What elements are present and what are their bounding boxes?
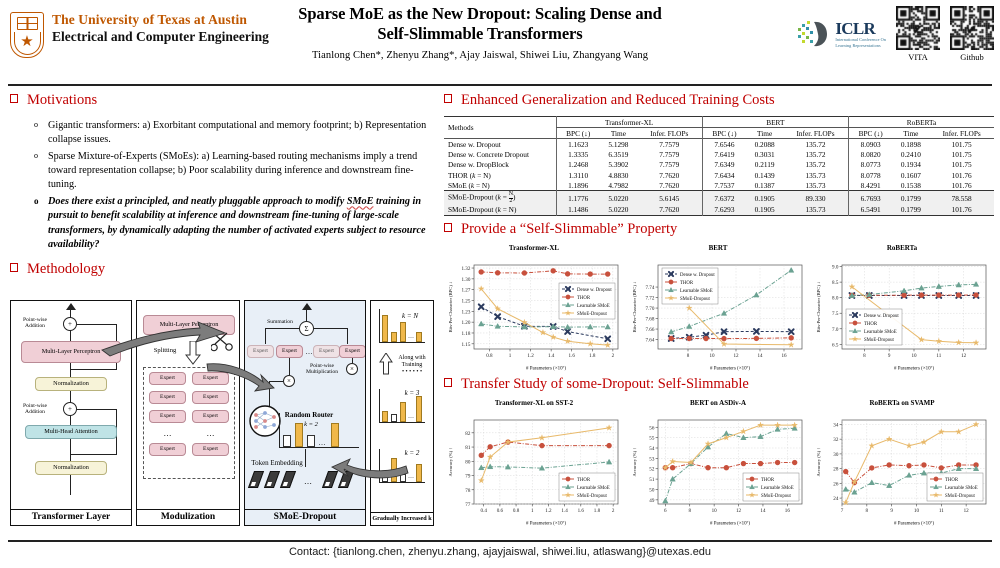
svg-text:2: 2 bbox=[612, 508, 615, 514]
svg-text:Learnable SMoE: Learnable SMoE bbox=[945, 486, 978, 491]
svg-text:1.2: 1.2 bbox=[545, 508, 552, 514]
svg-text:78: 78 bbox=[465, 488, 471, 494]
qr-vita[interactable]: VITA bbox=[896, 6, 940, 62]
table-cell: 101.76 bbox=[929, 180, 994, 191]
svg-text:34: 34 bbox=[833, 422, 839, 428]
table-cell: 6.5491 bbox=[848, 205, 892, 216]
table-row: Dense w. DropBlock1.24685.39027.75797.63… bbox=[444, 160, 994, 170]
chart-svg-tr-txl-sst2: 7778798081820.40.60.811.21.41.61.82Accur… bbox=[444, 408, 624, 526]
section-heading-motivations: Motivations bbox=[10, 92, 434, 109]
panel-body: Summation Σ Expert Expert … Expert Exper… bbox=[245, 301, 365, 509]
table-subheader-cell: Infer. FLOPs bbox=[929, 128, 994, 139]
label-pointwise-addition-2: Point-wise Addition bbox=[17, 403, 53, 416]
summation-node: Σ bbox=[299, 321, 314, 336]
svg-text:53: 53 bbox=[649, 456, 655, 462]
svg-text:1.25: 1.25 bbox=[461, 299, 470, 305]
table-cell: 0.1799 bbox=[892, 205, 929, 216]
table-cell: 8.0820 bbox=[848, 150, 892, 160]
svg-text:SMoE-Dropout: SMoE-Dropout bbox=[577, 494, 608, 499]
motivation-item: oSparse Mixture-of-Experts (SMoEs): a) L… bbox=[10, 150, 434, 192]
svg-text:# Parameters (×10⁷): # Parameters (×10⁷) bbox=[526, 366, 566, 372]
svg-text:1.2: 1.2 bbox=[527, 353, 534, 359]
chart-svg-tr-bert-asdiv: 49505152535455566810121416Accuracy (%) ↑… bbox=[628, 408, 808, 526]
table-group-transformer-xl: Transformer-XL bbox=[556, 117, 702, 128]
table-cell: 0.1934 bbox=[892, 160, 929, 170]
header-divider bbox=[8, 84, 992, 86]
table-cell: 8.0773 bbox=[848, 160, 892, 170]
svg-text:8: 8 bbox=[866, 508, 869, 514]
block-normalization-2: Normalization bbox=[35, 461, 107, 475]
expert-ellipsis: … bbox=[192, 429, 229, 438]
table-subheader-cell: Time bbox=[600, 128, 637, 139]
title-block: Sparse MoE as the New Dropout: Scaling D… bbox=[255, 4, 705, 61]
svg-text:Accuracy (%) ↑: Accuracy (%) ↑ bbox=[816, 448, 821, 477]
svg-text:1.32: 1.32 bbox=[461, 266, 470, 272]
table-cell: 1.1896 bbox=[556, 180, 600, 191]
table-group-bert: BERT bbox=[702, 117, 848, 128]
svg-text:11: 11 bbox=[936, 353, 941, 359]
table-cell: 4.8830 bbox=[600, 170, 637, 180]
svg-text:8.0: 8.0 bbox=[832, 296, 839, 302]
table-cell: 0.2410 bbox=[892, 150, 929, 160]
motivation-item: oGigantic transformers: a) Exorbitant co… bbox=[10, 119, 434, 147]
expert-block: Expert bbox=[149, 372, 186, 385]
table-cell: 7.6293 bbox=[702, 205, 746, 216]
panel-title-smoe-dropout: SMoE-Dropout bbox=[245, 509, 365, 525]
svg-text:# Parameters (×10⁷): # Parameters (×10⁷) bbox=[526, 521, 566, 527]
svg-text:9: 9 bbox=[888, 353, 891, 359]
motivation-text: Does there exist a principled, and neatl… bbox=[48, 195, 434, 251]
diagram-panel-smoe-dropout: Summation Σ Expert Expert … Expert Exper… bbox=[244, 300, 366, 526]
table-cell: 6.7693 bbox=[848, 191, 892, 205]
svg-text:Accuracy (%) ↑: Accuracy (%) ↑ bbox=[632, 448, 637, 477]
svg-text:10: 10 bbox=[712, 508, 718, 514]
expert-block-active: Expert bbox=[276, 345, 303, 358]
svg-text:6: 6 bbox=[664, 508, 667, 514]
label-random-router: Random Router bbox=[277, 411, 341, 419]
label-k-n: k = N bbox=[397, 312, 423, 320]
svg-text:7.68: 7.68 bbox=[645, 317, 654, 323]
chart-legend: Dense w. DropoutTHORLearnable SMoESMoE-D… bbox=[846, 309, 902, 345]
table-cell: 7.6546 bbox=[702, 139, 746, 150]
panel-body: Point-wise Addition + Multi-Layer Percep… bbox=[11, 301, 131, 509]
table-cell-method: Dense w. Dropout bbox=[444, 139, 556, 150]
svg-text:7: 7 bbox=[841, 508, 844, 514]
svg-text:THOR: THOR bbox=[761, 478, 775, 483]
svg-text:11: 11 bbox=[939, 508, 944, 514]
table-cell: 7.6434 bbox=[702, 170, 746, 180]
svg-text:16: 16 bbox=[785, 508, 791, 514]
table-cell: 8.0778 bbox=[848, 170, 892, 180]
table-cell: 7.7579 bbox=[637, 139, 702, 150]
svg-text:7.5: 7.5 bbox=[832, 311, 839, 317]
table-row: THOR (k = N)1.31104.88307.76207.64340.14… bbox=[444, 170, 994, 180]
table-row: Dense w. Dropout1.16235.12987.75797.6546… bbox=[444, 139, 994, 150]
panel-body: … k = N Along with Training • • • • • • … bbox=[371, 301, 433, 512]
svg-text:1.27: 1.27 bbox=[461, 288, 470, 294]
svg-text:1: 1 bbox=[509, 353, 512, 359]
table-cell: 7.7579 bbox=[637, 160, 702, 170]
table-cell: 101.76 bbox=[929, 205, 994, 216]
svg-text:0.4: 0.4 bbox=[481, 508, 488, 514]
expert-block: Expert bbox=[149, 410, 186, 423]
label-pointwise-multiplication: Point-wise Multiplication bbox=[301, 363, 343, 376]
label-summation: Summation bbox=[263, 319, 297, 325]
svg-text:1.23: 1.23 bbox=[461, 309, 470, 315]
svg-text:THOR: THOR bbox=[864, 322, 878, 327]
table-subheader-cell: Infer. FLOPs bbox=[783, 128, 848, 139]
contact-line: Contact: {tianlong.chen, zhenyu.zhang, a… bbox=[0, 546, 1000, 558]
methodology-diagram: Point-wise Addition + Multi-Layer Percep… bbox=[10, 300, 434, 526]
svg-text:Dense w. Dropout: Dense w. Dropout bbox=[577, 288, 612, 293]
table-subheader-cell: BPC (↓) bbox=[702, 128, 746, 139]
bar-ellipsis: … bbox=[317, 439, 327, 447]
table-cell: 6.3519 bbox=[600, 150, 637, 160]
expert-ellipsis: … bbox=[149, 429, 186, 438]
expert-block-inactive: Expert bbox=[247, 345, 274, 358]
svg-text:24: 24 bbox=[833, 496, 839, 502]
poster-root: ★ The University of Texas at Austin Elec… bbox=[0, 0, 1000, 568]
table-cell: 89.330 bbox=[783, 191, 848, 205]
svg-text:1: 1 bbox=[531, 508, 534, 514]
table-cell: 1.3335 bbox=[556, 150, 600, 160]
bar-ellipsis: … bbox=[407, 414, 415, 421]
iclr-logo: ICLR International Conference On Learnin… bbox=[796, 19, 886, 49]
chart-title: BERT on ASDiv-A bbox=[628, 399, 808, 407]
svg-text:Learnable SMoE: Learnable SMoE bbox=[680, 289, 713, 294]
training-dots: • • • • • • bbox=[394, 369, 430, 376]
svg-text:7.72: 7.72 bbox=[645, 296, 654, 302]
svg-text:79: 79 bbox=[465, 474, 471, 480]
table-cell: 7.7537 bbox=[702, 180, 746, 191]
table-cell: 5.1298 bbox=[600, 139, 637, 150]
addition-node-2: + bbox=[63, 402, 77, 416]
table-cell: 101.75 bbox=[929, 150, 994, 160]
qr-github-caption: Github bbox=[950, 52, 994, 62]
svg-text:THOR: THOR bbox=[577, 296, 591, 301]
section-heading-generalization: Enhanced Generalization and Reduced Trai… bbox=[444, 92, 994, 109]
expert-block: Expert bbox=[149, 391, 186, 404]
chart-svg-slim-txl: 1.151.181.201.231.251.271.301.320.811.21… bbox=[444, 253, 624, 371]
panel-title-gradually-increased-k: Gradually Increased k bbox=[371, 512, 433, 525]
multiplication-node-1: × bbox=[283, 375, 295, 387]
table-cell: 8.0903 bbox=[848, 139, 892, 150]
table-cell: 0.2088 bbox=[746, 139, 783, 150]
section-title-motivations: Motivations bbox=[27, 92, 97, 109]
qr-vita-caption: VITA bbox=[896, 52, 940, 62]
table-cell: 0.1898 bbox=[892, 139, 929, 150]
table-row: SMoE-Dropout (k = N)1.14865.02207.76207.… bbox=[444, 205, 994, 216]
diagram-panel-transformer-layer: Point-wise Addition + Multi-Layer Percep… bbox=[10, 300, 132, 526]
table-cell: 1.1776 bbox=[556, 191, 600, 205]
svg-text:1.4: 1.4 bbox=[548, 353, 555, 359]
section-title-generalization: Enhanced Generalization and Reduced Trai… bbox=[461, 92, 775, 109]
chart-svg-slim-bert: 7.647.667.687.707.727.74810121416Bits-Pe… bbox=[628, 253, 808, 371]
svg-text:32: 32 bbox=[833, 437, 839, 443]
motivation-text: Sparse Mixture-of-Experts (SMoEs): a) Le… bbox=[48, 150, 434, 192]
svg-text:Bits-Per-Character (BPC) ↓: Bits-Per-Character (BPC) ↓ bbox=[632, 282, 637, 333]
up-arrow-icon bbox=[379, 353, 393, 375]
table-cell: 8.4291 bbox=[848, 180, 892, 191]
svg-text:Bits-Per-Character (BPC) ↓: Bits-Per-Character (BPC) ↓ bbox=[816, 282, 821, 333]
down-arrow-icon bbox=[185, 341, 201, 365]
svg-text:8: 8 bbox=[687, 353, 690, 359]
university-branding: ★ The University of Texas at Austin Elec… bbox=[10, 12, 269, 58]
chart-card-slim-roberta: RoBERTa6.57.07.58.08.59.089101112Bits-Pe… bbox=[812, 244, 992, 371]
chart-row-slimmable: Transformer-XL1.151.181.201.231.251.271.… bbox=[444, 244, 994, 371]
chart-legend: THORLearnable SMoESMoE-Dropout bbox=[743, 473, 799, 501]
multiplication-node-2: × bbox=[346, 363, 358, 375]
table-row: Dense w. Concrete Dropout1.33356.35197.7… bbox=[444, 150, 994, 160]
svg-text:Learnable SMoE: Learnable SMoE bbox=[577, 486, 610, 491]
block-normalization-1: Normalization bbox=[35, 377, 107, 391]
table-cell: 101.75 bbox=[929, 160, 994, 170]
svg-text:1.15: 1.15 bbox=[461, 342, 470, 348]
scissors-icon bbox=[211, 331, 235, 353]
motivation-bullet-icon: o bbox=[10, 150, 48, 192]
svg-text:THOR: THOR bbox=[945, 478, 959, 483]
logo-group: ICLR International Conference On Learnin… bbox=[796, 6, 994, 62]
svg-text:12: 12 bbox=[733, 353, 739, 359]
iclr-wordmark: ICLR bbox=[835, 20, 886, 37]
expert-block-inactive: Expert bbox=[313, 345, 340, 358]
svg-text:8: 8 bbox=[688, 508, 691, 514]
section-title-transfer: Transfer Study of some-Dropout: Self-Sli… bbox=[461, 376, 749, 393]
svg-text:2: 2 bbox=[612, 353, 615, 359]
svg-text:SMoE-Dropout: SMoE-Dropout bbox=[761, 494, 792, 499]
motivation-text: Gigantic transformers: a) Exorbitant com… bbox=[48, 119, 434, 147]
chart-row-transfer: Transformer-XL on SST-27778798081820.40.… bbox=[444, 399, 994, 526]
expert-block: Expert bbox=[192, 372, 229, 385]
svg-text:55: 55 bbox=[649, 436, 655, 442]
svg-text:0.6: 0.6 bbox=[497, 508, 504, 514]
svg-text:6.5: 6.5 bbox=[832, 342, 839, 348]
svg-text:9: 9 bbox=[890, 508, 893, 514]
table-cell: 135.73 bbox=[783, 170, 848, 180]
chart-legend: Dense w. DropoutTHORLearnable SMoESMoE-D… bbox=[559, 283, 615, 319]
svg-text:Dense w. Dropout: Dense w. Dropout bbox=[864, 314, 899, 319]
section-bullet-icon bbox=[444, 223, 452, 232]
table-cell: 78.558 bbox=[929, 191, 994, 205]
table-cell: 7.7620 bbox=[637, 205, 702, 216]
svg-text:1.4: 1.4 bbox=[561, 508, 568, 514]
table-cell: 0.1538 bbox=[892, 180, 929, 191]
section-bullet-icon bbox=[10, 263, 18, 272]
table-cell: 1.3110 bbox=[556, 170, 600, 180]
svg-text:1.18: 1.18 bbox=[461, 331, 470, 337]
table-cell: 1.1623 bbox=[556, 139, 600, 150]
table-row: SMoE-Dropout (k = N2)1.17765.02205.61457… bbox=[444, 191, 994, 205]
university-name: The University of Texas at Austin bbox=[52, 12, 269, 29]
table-cell: 5.6145 bbox=[637, 191, 702, 205]
table-cell: 0.1387 bbox=[746, 180, 783, 191]
table-cell: 1.2468 bbox=[556, 160, 600, 170]
chart-svg-tr-roberta-svamp: 242628303234789101112Accuracy (%) ↑# Par… bbox=[812, 408, 992, 526]
label-splitting: Splitting bbox=[145, 347, 185, 354]
svg-text:1.8: 1.8 bbox=[594, 508, 601, 514]
block-multi-head-attention: Multi-Head Attention bbox=[25, 425, 117, 439]
expert-block: Expert bbox=[192, 410, 229, 423]
chart-card-tr-bert-asdiv: BERT on ASDiv-A4950515253545556681012141… bbox=[628, 399, 808, 526]
table-cell: 135.73 bbox=[783, 205, 848, 216]
bar-ellipsis: … bbox=[407, 334, 415, 341]
svg-text:12: 12 bbox=[736, 508, 742, 514]
svg-text:10: 10 bbox=[914, 508, 920, 514]
panel-title-modulization: Modulization bbox=[137, 509, 239, 525]
svg-text:SMoE-Dropout: SMoE-Dropout bbox=[680, 297, 711, 302]
chart-title: BERT bbox=[628, 244, 808, 252]
chart-card-slim-bert: BERT7.647.667.687.707.727.74810121416Bit… bbox=[628, 244, 808, 371]
table-cell: 101.76 bbox=[929, 170, 994, 180]
label-k-3: k = 3 bbox=[399, 389, 425, 397]
motivation-item: oDoes there exist a principled, and neat… bbox=[10, 195, 434, 251]
svg-text:77: 77 bbox=[465, 502, 471, 508]
table-cell: 0.1799 bbox=[892, 191, 929, 205]
left-column: Motivations oGigantic transformers: a) E… bbox=[10, 92, 434, 278]
section-bullet-icon bbox=[10, 94, 18, 103]
label-along-with-training: Along with Training bbox=[394, 355, 430, 369]
svg-text:81: 81 bbox=[465, 445, 471, 451]
token-ellipsis: … bbox=[297, 477, 319, 486]
table-group-header-row: Methods Transformer-XL BERT RoBERTa bbox=[444, 117, 994, 128]
svg-text:Dense w. Dropout: Dense w. Dropout bbox=[680, 273, 715, 278]
table-cell-method: Dense w. Concrete Dropout bbox=[444, 150, 556, 160]
svg-text:7.70: 7.70 bbox=[645, 306, 654, 312]
poster-title-line1: Sparse MoE as the New Dropout: Scaling D… bbox=[255, 4, 705, 24]
section-heading-transfer: Transfer Study of some-Dropout: Self-Sli… bbox=[444, 376, 994, 393]
svg-text:52: 52 bbox=[649, 467, 655, 473]
motivation-bullet-icon: o bbox=[10, 195, 48, 251]
section-bullet-icon bbox=[444, 378, 452, 387]
right-column: Enhanced Generalization and Reduced Trai… bbox=[444, 92, 994, 526]
label-pointwise-addition-1: Point-wise Addition bbox=[17, 317, 53, 330]
router-network-icon bbox=[249, 405, 281, 437]
table-cell: 7.6419 bbox=[702, 150, 746, 160]
table-cell: 135.72 bbox=[783, 139, 848, 150]
iclr-subtitle-1: International Conference On bbox=[835, 37, 886, 42]
table-subheader-cell: BPC (↓) bbox=[556, 128, 600, 139]
svg-text:# Parameters (×10⁷): # Parameters (×10⁷) bbox=[710, 366, 750, 372]
table-subheader-cell: Time bbox=[892, 128, 929, 139]
chart-title: Transformer-XL on SST-2 bbox=[444, 399, 624, 407]
table-cell: 0.1905 bbox=[746, 205, 783, 216]
svg-text:1.30: 1.30 bbox=[461, 277, 470, 283]
svg-text:# Parameters (×10⁷): # Parameters (×10⁷) bbox=[710, 521, 750, 527]
table-cell: 7.7620 bbox=[637, 180, 702, 191]
svg-text:7.0: 7.0 bbox=[832, 327, 839, 333]
expert-block: Expert bbox=[192, 391, 229, 404]
svg-text:SMoE-Dropout: SMoE-Dropout bbox=[945, 494, 976, 499]
label-token-embedding: Token Embedding bbox=[247, 459, 307, 467]
diagram-panel-modulization: Multi-Layer Perceptron Splitting Expert … bbox=[136, 300, 240, 526]
svg-text:16: 16 bbox=[781, 353, 787, 359]
svg-text:30: 30 bbox=[833, 452, 839, 458]
svg-text:Bits-Per-Character (BPC) ↓: Bits-Per-Character (BPC) ↓ bbox=[448, 282, 453, 333]
svg-text:51: 51 bbox=[649, 477, 655, 483]
svg-text:49: 49 bbox=[649, 498, 655, 504]
svg-text:10: 10 bbox=[911, 353, 917, 359]
svg-text:THOR: THOR bbox=[680, 281, 694, 286]
svg-text:80: 80 bbox=[465, 459, 471, 465]
addition-node-1: + bbox=[63, 317, 77, 331]
chart-legend: Dense w. DropoutTHORLearnable SMoESMoE-D… bbox=[662, 268, 718, 304]
chart-legend: THORLearnable SMoESMoE-Dropout bbox=[559, 473, 615, 501]
chart-card-tr-roberta-svamp: RoBERTa on SVAMP242628303234789101112Acc… bbox=[812, 399, 992, 526]
chart-title: RoBERTa on SVAMP bbox=[812, 399, 992, 407]
svg-text:Learnable SMoE: Learnable SMoE bbox=[761, 486, 794, 491]
section-bullet-icon bbox=[444, 94, 452, 103]
svg-text:Learnable SMoE: Learnable SMoE bbox=[577, 304, 610, 309]
qr-github[interactable]: Github bbox=[950, 6, 994, 62]
svg-text:7.74: 7.74 bbox=[645, 285, 654, 291]
table-cell: 7.6349 bbox=[702, 160, 746, 170]
table-row: SMoE (k = N)1.18964.79827.76207.75370.13… bbox=[444, 180, 994, 191]
poster-authors: Tianlong Chen*, Zhenyu Zhang*, Ajay Jais… bbox=[255, 50, 705, 61]
svg-text:12: 12 bbox=[964, 508, 970, 514]
svg-text:1.6: 1.6 bbox=[578, 508, 585, 514]
svg-text:14: 14 bbox=[760, 508, 766, 514]
svg-text:1.20: 1.20 bbox=[461, 320, 470, 326]
block-mlp: Multi-Layer Perceptron bbox=[21, 341, 121, 363]
table-cell: 1.1486 bbox=[556, 205, 600, 216]
poster-title-line2: Self-Slimmable Transformers bbox=[255, 24, 705, 44]
table-cell: 5.3902 bbox=[600, 160, 637, 170]
table-cell-method: SMoE-Dropout (k = N2) bbox=[444, 191, 556, 205]
table-cell: 7.6372 bbox=[702, 191, 746, 205]
svg-text:SMoE-Dropout: SMoE-Dropout bbox=[577, 312, 608, 317]
svg-text:0.8: 0.8 bbox=[513, 508, 520, 514]
table-header-methods: Methods bbox=[444, 117, 556, 139]
bar-ellipsis: … bbox=[407, 474, 415, 481]
svg-text:12: 12 bbox=[961, 353, 967, 359]
svg-text:50: 50 bbox=[649, 488, 655, 494]
label-k-2: k = 2 bbox=[399, 449, 425, 457]
svg-text:8.5: 8.5 bbox=[832, 280, 839, 286]
svg-text:54: 54 bbox=[649, 446, 655, 452]
poster-header: ★ The University of Texas at Austin Elec… bbox=[0, 0, 1000, 86]
chart-svg-slim-roberta: 6.57.07.58.08.59.089101112Bits-Per-Chara… bbox=[812, 253, 992, 371]
table-cell: 0.3031 bbox=[746, 150, 783, 160]
chart-card-slim-txl: Transformer-XL1.151.181.201.231.251.271.… bbox=[444, 244, 624, 371]
chart-card-tr-txl-sst2: Transformer-XL on SST-27778798081820.40.… bbox=[444, 399, 624, 526]
chart-legend: THORLearnable SMoESMoE-Dropout bbox=[927, 473, 983, 501]
table-cell-method: Dense w. DropBlock bbox=[444, 160, 556, 170]
table-cell-method: THOR (k = N) bbox=[444, 170, 556, 180]
svg-text:# Parameters (×10⁷): # Parameters (×10⁷) bbox=[894, 366, 934, 372]
svg-text:10: 10 bbox=[709, 353, 715, 359]
svg-text:0.8: 0.8 bbox=[486, 353, 493, 359]
expert-block: Expert bbox=[192, 443, 229, 456]
svg-text:26: 26 bbox=[833, 481, 839, 487]
svg-text:# Parameters (×10⁷): # Parameters (×10⁷) bbox=[894, 521, 934, 527]
motivations-list: oGigantic transformers: a) Exorbitant co… bbox=[10, 119, 434, 252]
chart-title: Transformer-XL bbox=[444, 244, 624, 252]
svg-text:1.6: 1.6 bbox=[569, 353, 576, 359]
svg-text:7.64: 7.64 bbox=[645, 338, 654, 344]
expert-block: Expert bbox=[149, 443, 186, 456]
department-name: Electrical and Computer Engineering bbox=[52, 29, 269, 46]
table-subheader-cell: BPC (↓) bbox=[848, 128, 892, 139]
table-cell: 0.1607 bbox=[892, 170, 929, 180]
table-cell: 7.7579 bbox=[637, 150, 702, 160]
table-cell: 101.75 bbox=[929, 139, 994, 150]
svg-text:1.8: 1.8 bbox=[589, 353, 596, 359]
table-subheader-cell: Infer. FLOPs bbox=[637, 128, 702, 139]
svg-text:56: 56 bbox=[649, 425, 655, 431]
svg-text:Accuracy (%) ↑: Accuracy (%) ↑ bbox=[448, 448, 453, 477]
table-cell: 5.0220 bbox=[600, 191, 637, 205]
chart-title: RoBERTa bbox=[812, 244, 992, 252]
